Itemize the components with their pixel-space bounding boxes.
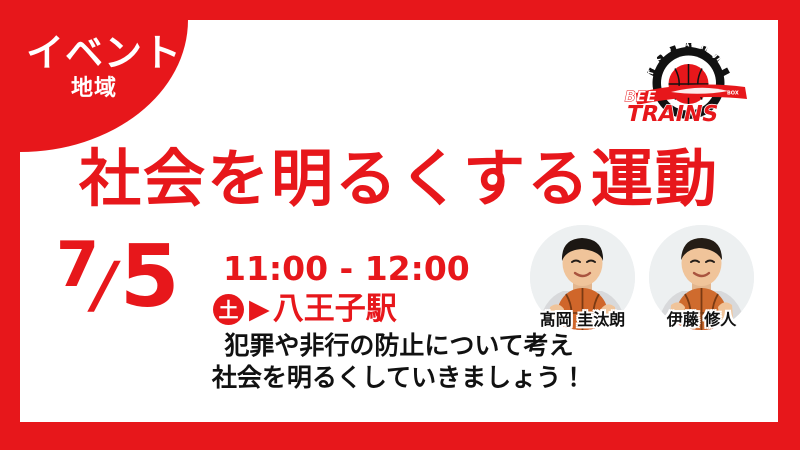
event-category-badge: イベント 地域: [20, 20, 188, 152]
page-title: 社会を明るくする運動: [20, 148, 778, 210]
logo-small-text: BOX: [727, 91, 739, 97]
poster-inner-panel: イベント 地域: [20, 20, 778, 422]
day-of-week-badge: 土: [213, 294, 244, 325]
event-day: 5: [120, 227, 180, 327]
event-subcategory-label: 地域: [20, 78, 168, 100]
player-name: 髙岡 圭汰朗: [518, 312, 647, 328]
event-place: 八王子駅: [273, 294, 397, 325]
player-card: 伊藤 修人: [649, 225, 754, 330]
event-date: 7/5: [56, 234, 180, 320]
player-name: 伊藤 修人: [637, 312, 766, 328]
event-message: 犯罪や非行の防止について考え 社会を明るくしていきましょう！: [20, 330, 778, 394]
logo-trains-text: TRAINS: [624, 101, 721, 127]
player-card: 髙岡 圭汰朗: [530, 225, 635, 330]
event-poster: イベント 地域: [0, 0, 800, 450]
arrow-right-icon: ▶: [249, 296, 270, 323]
event-time: 11:00 - 12:00: [223, 252, 470, 285]
event-category-label: イベント: [26, 34, 176, 72]
player-list: 髙岡 圭汰朗: [530, 225, 754, 330]
event-place-row: 土 ▶ 八王子駅: [213, 294, 397, 325]
team-logo: TOKYO HACHIOJI BOX BEE TRAINS: [621, 28, 756, 128]
event-message-line-2: 社会を明るくしていきましょう！: [20, 362, 778, 394]
event-message-line-1: 犯罪や非行の防止について考え: [20, 330, 778, 362]
